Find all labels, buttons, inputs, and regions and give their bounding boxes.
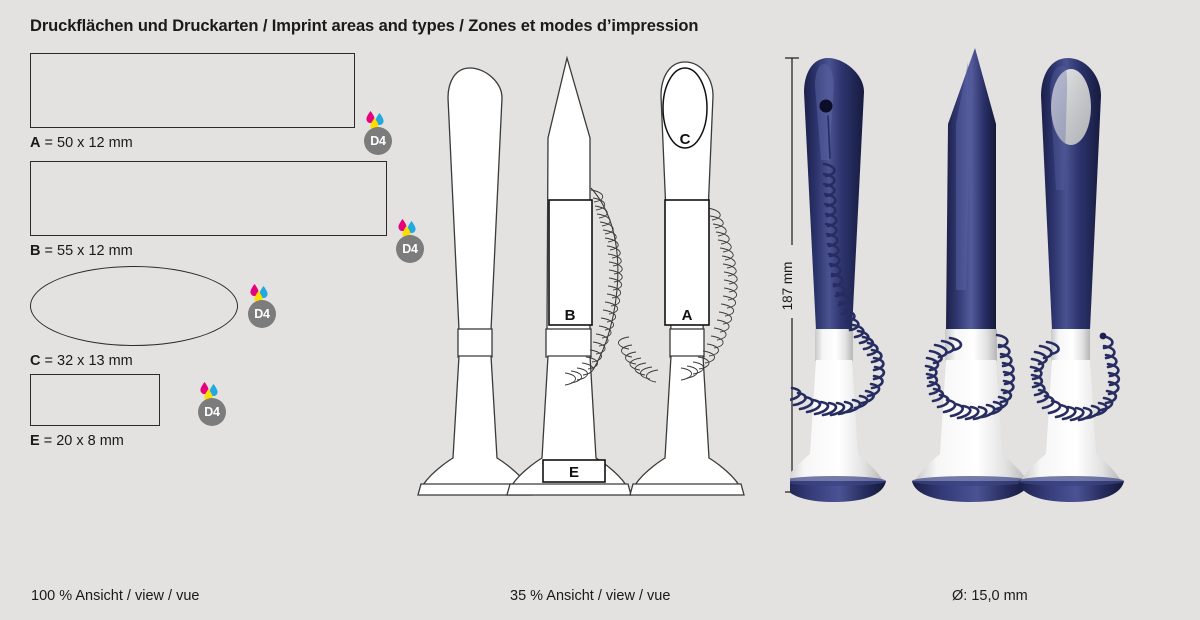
zone-label-a: A [682,307,693,324]
imprint-shape-a [30,53,355,128]
imprint-area-c: C = 32 x 13 mm D4 [30,266,238,346]
imprint-area-e: E = 20 x 8 mm D4 [30,374,160,426]
print-method-badge-d4: D4 [196,382,230,426]
imprint-zone-b-marker: B [549,200,592,325]
footer-scale-center: 35 % Ansicht / view / vue [510,588,670,604]
product-render-front [790,58,886,502]
zone-label-c: C [680,131,691,148]
imprint-code-c: C [30,353,40,369]
footer-diameter: Ø: 15,0 mm [952,588,1028,604]
print-method-badge-d4: D4 [362,111,396,155]
imprint-zone-a-marker: A [665,200,709,325]
technical-view-front [418,68,532,495]
imprint-code-b: B [30,243,40,259]
imprint-shape-b [30,161,387,236]
imprint-shape-e [30,374,160,426]
print-method-badge-d4: D4 [246,284,280,328]
imprint-area-a: A = 50 x 12 mm D4 [30,53,355,128]
badge-label-d4: D4 [364,127,392,155]
badge-label-d4: D4 [198,398,226,426]
technical-drawings: B E [415,40,805,510]
imprint-caption-e: E = 20 x 8 mm [30,433,124,449]
imprint-zone-e-marker: E [543,460,605,482]
imprint-code-a: A [30,135,40,151]
imprint-area-b: B = 55 x 12 mm D4 [30,161,387,236]
imprint-shape-c [30,266,238,346]
imprint-size-b: = 55 x 12 mm [40,243,132,259]
zone-label-e: E [569,464,579,481]
imprint-caption-b: B = 55 x 12 mm [30,243,133,259]
product-renderings [790,40,1200,510]
imprint-caption-c: C = 32 x 13 mm [30,353,133,369]
zone-label-b: B [565,307,576,324]
imprint-size-a: = 50 x 12 mm [40,135,132,151]
imprint-zone-c-marker: C [663,68,707,148]
footer-scale-left: 100 % Ansicht / view / vue [31,588,199,604]
product-render-side [912,48,1030,502]
badge-label-d4: D4 [248,300,276,328]
imprint-caption-a: A = 50 x 12 mm [30,135,133,151]
imprint-code-e: E [30,433,40,449]
product-render-back [1018,58,1124,502]
imprint-areas-panel: A = 50 x 12 mm D4 B = 55 x 12 mm [0,0,430,560]
spec-sheet: Druckflächen und Druckarten / Imprint ar… [0,0,1200,620]
imprint-size-e: = 20 x 8 mm [40,433,124,449]
imprint-size-c: = 32 x 13 mm [40,353,132,369]
